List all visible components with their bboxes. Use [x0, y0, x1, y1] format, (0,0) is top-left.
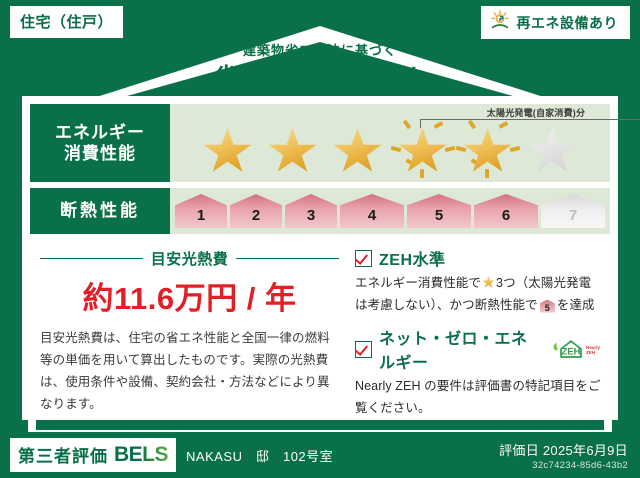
sun-solar-icon	[489, 10, 511, 35]
insulation-chip-6: 6	[474, 194, 538, 228]
zeh-column: ZEH水準 エネルギー消費性能で3つ（太陽光発電は考慮しない）、かつ断熱性能で5…	[345, 244, 610, 416]
category-badge: 住宅（住戸）	[10, 6, 123, 38]
insulation-chip-1: 1	[175, 194, 227, 228]
lower-section: 目安光熱費 約11.6万円 / 年 目安光熱費は、住宅の省エネ性能と全国一律の燃…	[30, 244, 610, 416]
net-zero-checkbox-icon	[355, 341, 372, 358]
star-2	[262, 120, 324, 180]
zeh-standard-block: ZEH水準 エネルギー消費性能で3つ（太陽光発電は考慮しない）、かつ断熱性能で5…	[355, 246, 602, 316]
star-5	[457, 120, 519, 180]
star-1	[197, 120, 259, 180]
label-subtitle: 建築物省エネ法に基づく	[0, 40, 640, 59]
label-title: 省エネ性能ラベル	[0, 58, 640, 94]
solar-annotation-bracket	[420, 119, 640, 128]
evaluation-date: 評価日 2025年6月9日	[499, 440, 628, 459]
zeh-standard-heading: ZEH水準	[355, 246, 602, 270]
cost-heading: 目安光熱費	[151, 248, 229, 269]
insulation-chip-7: 7	[541, 194, 605, 228]
insulation-chip-4: 4	[340, 194, 404, 228]
footer-bar: 第三者評価 BELS NAKASU 邸 102号室 評価日 2025年6月9日 …	[0, 432, 640, 478]
insulation-chip-2: 2	[230, 194, 282, 228]
inline-star-icon	[482, 276, 495, 289]
zeh-star-count: 3つ	[496, 276, 516, 290]
net-zero-text: Nearly ZEH の要件は評価書の特記項目をご覧ください。	[355, 376, 602, 419]
cost-column: 目安光熱費 約11.6万円 / 年 目安光熱費は、住宅の省エネ性能と全国一律の燃…	[30, 244, 345, 416]
svg-text:ZEH: ZEH	[586, 350, 596, 355]
zeh-text-before-star: エネルギー消費性能で	[355, 276, 481, 290]
energy-performance-row: エネルギー 消費性能 太陽光発電(自家消費)分	[30, 104, 610, 182]
energy-performance-body: 太陽光発電(自家消費)分	[170, 104, 610, 182]
cost-heading-row: 目安光熱費	[40, 248, 339, 269]
owner-name: NAKASU 邸 102号室	[186, 446, 333, 465]
net-zero-heading: ネット・ゼロ・エネルギー ZEH Nearly ZEH	[355, 325, 602, 373]
energy-label-line2: 消費性能	[55, 143, 145, 164]
zeh-text-after: を達成	[557, 298, 595, 312]
energy-label-line1: エネルギー	[55, 122, 145, 143]
insulation-chip-scale: 1 2 3 4 5 6 7	[170, 188, 610, 234]
zeh-standard-checkbox-icon	[355, 250, 372, 267]
zeh-house-logo-icon: ZEH Nearly ZEH	[550, 338, 602, 360]
label-root: 住宅（住戸） 再エネ設備あり 建築物省エネ法に基づく 省エネ性能ラベル	[0, 0, 640, 478]
inline-insulation-chip-icon: 5	[540, 300, 555, 313]
solar-annotation-label: 太陽光発電(自家消費)分	[416, 106, 640, 119]
bels-logo-text: BELS	[114, 443, 168, 467]
cost-rule-left	[40, 258, 143, 259]
insulation-chip-5: 5	[407, 194, 471, 228]
zeh-standard-title: ZEH水準	[379, 246, 446, 270]
star-6-empty	[522, 120, 584, 180]
cost-value: 約11.6万円 / 年	[40, 273, 339, 318]
svg-text:ZEH: ZEH	[562, 347, 581, 358]
insulation-performance-row: 断熱性能 1 2 3 4 5 6 7	[30, 188, 610, 234]
star-rating	[170, 120, 610, 180]
cost-rule-right	[236, 258, 339, 259]
insulation-chip-3: 3	[285, 194, 337, 228]
zeh-standard-text: エネルギー消費性能で3つ（太陽光発電は考慮しない）、かつ断熱性能で5を達成	[355, 273, 602, 316]
energy-performance-label: エネルギー 消費性能	[30, 104, 170, 182]
star-3	[327, 120, 389, 180]
bels-jp-label: 第三者評価	[18, 442, 108, 467]
evaluation-id: 32c74234-85d6-43b2	[499, 460, 628, 471]
footer-right: 評価日 2025年6月9日 32c74234-85d6-43b2	[499, 440, 628, 471]
net-zero-block: ネット・ゼロ・エネルギー ZEH Nearly ZEH Nearly ZEH の…	[355, 325, 602, 419]
content-card: エネルギー 消費性能 太陽光発電(自家消費)分	[22, 96, 618, 420]
renewable-energy-badge: 再エネ設備あり	[481, 6, 631, 39]
bels-badge: 第三者評価 BELS	[10, 438, 176, 472]
cost-note: 目安光熱費は、住宅の省エネ性能と全国一律の燃料等の単価を用いて算出したものです。…	[40, 328, 339, 416]
star-4	[392, 120, 454, 180]
net-zero-title: ネット・ゼロ・エネルギー	[379, 325, 539, 373]
renewable-badge-label: 再エネ設備あり	[517, 13, 619, 33]
insulation-performance-body: 1 2 3 4 5 6 7	[170, 188, 610, 234]
insulation-performance-label: 断熱性能	[30, 188, 170, 234]
